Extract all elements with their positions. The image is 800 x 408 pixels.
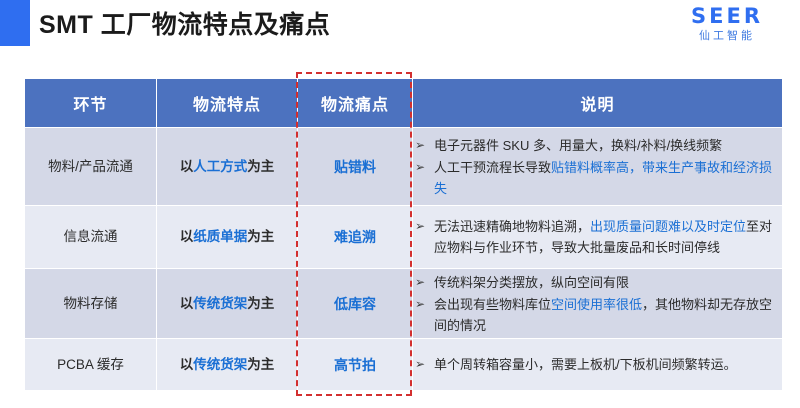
bullet-text-plain-lead: 会出现有些物料库位 <box>434 297 551 312</box>
cell-stage: PCBA 缓存 <box>25 339 156 390</box>
cell-pain: 难追溯 <box>298 206 412 268</box>
bullet-arrow-icon: ➢ <box>415 354 425 375</box>
list-item: ➢传统料架分类摆放，纵向空间有限 <box>413 272 782 293</box>
list-item: ➢会出现有些物料库位空间使用率很低，其他物料却无存放空间的情况 <box>413 294 782 336</box>
bullet-text-plain-lead: 无法迅速精确地物料追溯， <box>434 219 590 234</box>
column-header-feature: 物流特点 <box>157 79 297 127</box>
slide-root: SMT 工厂物流特点及痛点 SEER 仙工智能 环节 物流特点 物流痛点 说明 <box>0 0 800 408</box>
cell-description: ➢单个周转箱容量小，需要上板机/下板机间频繁转运。 <box>413 339 782 390</box>
feature-highlight: 传统货架 <box>193 296 247 311</box>
description-bullet-list: ➢无法迅速精确地物料追溯，出现质量问题难以及时定位至对应物料与作业环节，导致大批… <box>413 216 782 258</box>
cell-pain: 贴错料 <box>298 128 412 205</box>
bullet-text-highlight: 空间使用率很低 <box>551 297 642 312</box>
feature-prefix: 以 <box>180 357 194 372</box>
feature-highlight: 纸质单据 <box>193 229 247 244</box>
cell-pain: 低库容 <box>298 269 412 338</box>
bullet-arrow-icon: ➢ <box>415 216 425 237</box>
list-item: ➢人工干预流程长导致贴错料概率高，带来生产事故和经济损失 <box>413 157 782 199</box>
bullet-text-plain-lead: 单个周转箱容量小，需要上板机/下板机间频繁转运。 <box>434 357 737 372</box>
cell-pain: 高节拍 <box>298 339 412 390</box>
table-row: 物料存储 以传统货架为主 低库容 ➢传统料架分类摆放，纵向空间有限 ➢会出现有些… <box>25 269 782 338</box>
bullet-text-plain-lead: 人工干预流程长导致 <box>434 160 551 175</box>
description-bullet-list: ➢电子元器件 SKU 多、用量大，换料/补料/换线频繁 ➢人工干预流程长导致贴错… <box>413 135 782 199</box>
matrix-table: 环节 物流特点 物流痛点 说明 物料/产品流通 以人工方式为主 贴错料 ➢电子元… <box>24 78 783 391</box>
feature-prefix: 以 <box>180 229 194 244</box>
feature-prefix: 以 <box>180 296 194 311</box>
cell-stage: 物料/产品流通 <box>25 128 156 205</box>
cell-stage: 物料存储 <box>25 269 156 338</box>
cell-stage: 信息流通 <box>25 206 156 268</box>
brand-logo-mark: SEER <box>668 4 786 28</box>
feature-suffix: 为主 <box>247 296 274 311</box>
table-row: PCBA 缓存 以传统货架为主 高节拍 ➢单个周转箱容量小，需要上板机/下板机间… <box>25 339 782 390</box>
matrix-table-container: 环节 物流特点 物流痛点 说明 物料/产品流通 以人工方式为主 贴错料 ➢电子元… <box>24 78 782 391</box>
list-item: ➢无法迅速精确地物料追溯，出现质量问题难以及时定位至对应物料与作业环节，导致大批… <box>413 216 782 258</box>
description-bullet-list: ➢单个周转箱容量小，需要上板机/下板机间频繁转运。 <box>413 354 782 375</box>
cell-description: ➢无法迅速精确地物料追溯，出现质量问题难以及时定位至对应物料与作业环节，导致大批… <box>413 206 782 268</box>
column-header-stage: 环节 <box>25 79 156 127</box>
bullet-arrow-icon: ➢ <box>415 294 425 315</box>
column-header-desc: 说明 <box>413 79 782 127</box>
cell-description: ➢传统料架分类摆放，纵向空间有限 ➢会出现有些物料库位空间使用率很低，其他物料却… <box>413 269 782 338</box>
cell-feature: 以传统货架为主 <box>157 269 297 338</box>
bullet-arrow-icon: ➢ <box>415 272 425 293</box>
feature-suffix: 为主 <box>247 159 274 174</box>
table-header-row: 环节 物流特点 物流痛点 说明 <box>25 79 782 127</box>
table-row: 物料/产品流通 以人工方式为主 贴错料 ➢电子元器件 SKU 多、用量大，换料/… <box>25 128 782 205</box>
page-title: SMT 工厂物流特点及痛点 <box>39 8 330 42</box>
feature-highlight: 人工方式 <box>193 159 247 174</box>
cell-feature: 以传统货架为主 <box>157 339 297 390</box>
bullet-text-plain-lead: 电子元器件 SKU 多、用量大，换料/补料/换线频繁 <box>434 138 722 153</box>
title-accent-bar <box>0 0 30 46</box>
brand-logo-subtitle: 仙工智能 <box>668 29 786 43</box>
feature-prefix: 以 <box>180 159 194 174</box>
bullet-text-highlight: 出现质量问题难以及时定位 <box>590 219 746 234</box>
slide-header: SMT 工厂物流特点及痛点 SEER 仙工智能 <box>0 0 800 58</box>
feature-suffix: 为主 <box>247 229 274 244</box>
cell-feature: 以人工方式为主 <box>157 128 297 205</box>
list-item: ➢电子元器件 SKU 多、用量大，换料/补料/换线频繁 <box>413 135 782 156</box>
cell-description: ➢电子元器件 SKU 多、用量大，换料/补料/换线频繁 ➢人工干预流程长导致贴错… <box>413 128 782 205</box>
bullet-text-plain-lead: 传统料架分类摆放，纵向空间有限 <box>434 275 629 290</box>
bullet-arrow-icon: ➢ <box>415 135 425 156</box>
brand-logo: SEER 仙工智能 <box>668 4 786 43</box>
table-body: 物料/产品流通 以人工方式为主 贴错料 ➢电子元器件 SKU 多、用量大，换料/… <box>25 128 782 390</box>
column-header-pain: 物流痛点 <box>298 79 412 127</box>
bullet-arrow-icon: ➢ <box>415 157 425 178</box>
description-bullet-list: ➢传统料架分类摆放，纵向空间有限 ➢会出现有些物料库位空间使用率很低，其他物料却… <box>413 272 782 336</box>
list-item: ➢单个周转箱容量小，需要上板机/下板机间频繁转运。 <box>413 354 782 375</box>
cell-feature: 以纸质单据为主 <box>157 206 297 268</box>
feature-highlight: 传统货架 <box>193 357 247 372</box>
table-row: 信息流通 以纸质单据为主 难追溯 ➢无法迅速精确地物料追溯，出现质量问题难以及时… <box>25 206 782 268</box>
feature-suffix: 为主 <box>247 357 274 372</box>
